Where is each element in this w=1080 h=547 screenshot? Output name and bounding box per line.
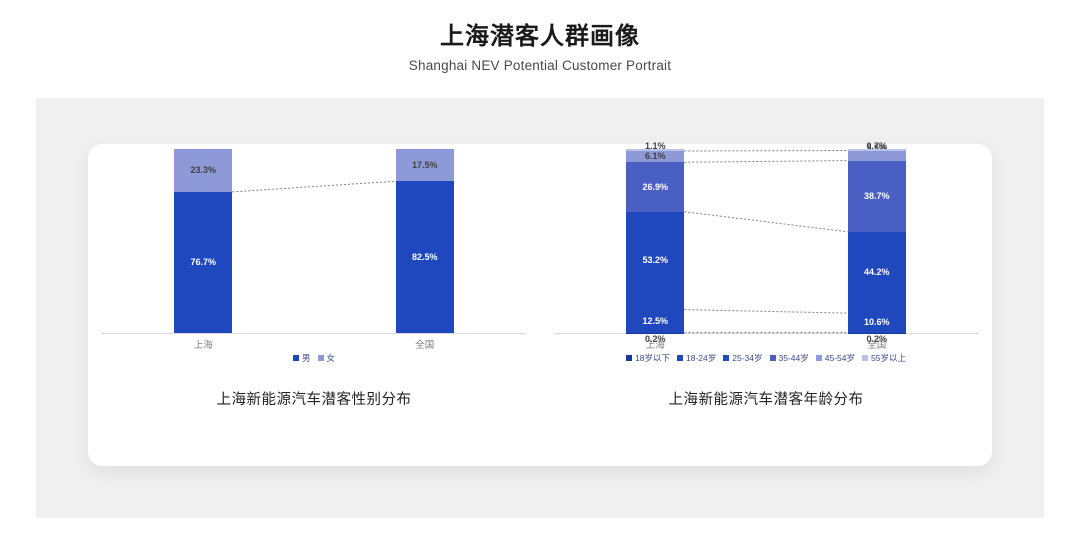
x-tick-label: 全国	[867, 337, 886, 351]
legend-label: 18岁以下	[635, 352, 670, 364]
bar-segment[interactable]: 76.7%	[174, 192, 232, 333]
segment-value-label: 6.1%	[645, 152, 666, 161]
x-tick-labels: 上海全国	[88, 334, 540, 354]
segment-value-label: 76.7%	[190, 258, 216, 267]
page-subtitle: Shanghai NEV Potential Customer Portrait	[0, 58, 1080, 73]
page-header: 上海潜客人群画像 Shanghai NEV Potential Customer…	[0, 22, 1080, 73]
connector-lines	[88, 144, 540, 334]
legend-swatch-icon	[677, 355, 683, 361]
legend-swatch-icon	[862, 355, 868, 361]
legend-swatch-icon	[626, 355, 632, 361]
legend-swatch-icon	[293, 355, 299, 361]
x-tick-label: 全国	[415, 337, 434, 351]
bar-age-1[interactable]: 0.2%10.6%44.2%38.7%5.5%0.7%	[848, 149, 906, 333]
legend-label: 55岁以上	[871, 352, 906, 364]
legend-swatch-icon	[770, 355, 776, 361]
bar-segment[interactable]: 0.7%	[848, 149, 906, 150]
plot-area-age: 0.2%12.5%53.2%26.9%6.1%1.1%0.2%10.6%44.2…	[540, 144, 992, 334]
bar-segment[interactable]: 44.2%	[848, 232, 906, 313]
segment-value-label: 12.5%	[642, 317, 668, 326]
segment-value-label: 1.1%	[645, 142, 666, 151]
legend-item[interactable]: 18-24岁	[677, 352, 716, 364]
legend-label: 女	[327, 352, 336, 364]
x-tick-label: 上海	[646, 337, 665, 351]
legend-item[interactable]: 18岁以下	[626, 352, 670, 364]
legend-item[interactable]: 男	[293, 352, 311, 364]
segment-value-label: 38.7%	[864, 192, 890, 201]
legend-age: 18岁以下18-24岁25-34岁35-44岁45-54岁55岁以上	[540, 352, 992, 364]
legend-swatch-icon	[318, 355, 324, 361]
legend-swatch-icon	[816, 355, 822, 361]
legend-gender: 男女	[88, 352, 540, 364]
connector-lines	[540, 144, 992, 334]
legend-item[interactable]: 25-34岁	[723, 352, 762, 364]
x-tick-labels: 上海全国	[540, 334, 992, 354]
segment-value-label: 23.3%	[190, 166, 216, 175]
bar-segment[interactable]: 12.5%	[626, 310, 684, 333]
bar-segment[interactable]: 23.3%	[174, 149, 232, 192]
segment-value-label: 10.6%	[864, 318, 890, 327]
legend-label: 18-24岁	[686, 352, 716, 364]
segment-value-label: 53.2%	[642, 256, 668, 265]
bar-segment[interactable]: 5.5%	[848, 151, 906, 161]
bar-segment[interactable]: 53.2%	[626, 212, 684, 310]
charts-card: 76.7%23.3%82.5%17.5%上海全国男女上海新能源汽车潜客性别分布0…	[88, 144, 992, 466]
bar-age-0[interactable]: 0.2%12.5%53.2%26.9%6.1%1.1%	[626, 149, 684, 333]
bar-segment[interactable]: 26.9%	[626, 162, 684, 211]
chart-caption-gender: 上海新能源汽车潜客性别分布	[88, 388, 540, 409]
legend-label: 男	[302, 352, 311, 364]
legend-label: 45-54岁	[825, 352, 855, 364]
segment-value-label: 44.2%	[864, 268, 890, 277]
page-title: 上海潜客人群画像	[0, 22, 1080, 52]
legend-item[interactable]: 45-54岁	[816, 352, 855, 364]
legend-item[interactable]: 35-44岁	[770, 352, 809, 364]
bar-segment[interactable]: 6.1%	[626, 151, 684, 162]
chart-age: 0.2%12.5%53.2%26.9%6.1%1.1%0.2%10.6%44.2…	[540, 144, 992, 466]
segment-value-label: 26.9%	[642, 183, 668, 192]
bar-segment[interactable]: 17.5%	[396, 149, 454, 181]
bar-segment[interactable]: 82.5%	[396, 181, 454, 333]
legend-label: 35-44岁	[779, 352, 809, 364]
segment-value-label: 0.7%	[866, 142, 887, 151]
bar-segment[interactable]: 10.6%	[848, 313, 906, 333]
legend-item[interactable]: 55岁以上	[862, 352, 906, 364]
legend-item[interactable]: 女	[318, 352, 336, 364]
plot-area-gender: 76.7%23.3%82.5%17.5%	[88, 144, 540, 334]
charts-row: 76.7%23.3%82.5%17.5%上海全国男女上海新能源汽车潜客性别分布0…	[88, 144, 992, 466]
segment-value-label: 17.5%	[412, 161, 438, 170]
x-tick-label: 上海	[194, 337, 213, 351]
legend-swatch-icon	[723, 355, 729, 361]
chart-gender: 76.7%23.3%82.5%17.5%上海全国男女上海新能源汽车潜客性别分布	[88, 144, 540, 466]
legend-label: 25-34岁	[732, 352, 762, 364]
bar-gender-1[interactable]: 82.5%17.5%	[396, 149, 454, 333]
chart-caption-age: 上海新能源汽车潜客年龄分布	[540, 388, 992, 409]
bar-segment[interactable]: 1.1%	[626, 149, 684, 151]
bar-gender-0[interactable]: 76.7%23.3%	[174, 149, 232, 333]
segment-value-label: 82.5%	[412, 253, 438, 262]
bar-segment[interactable]: 38.7%	[848, 161, 906, 232]
